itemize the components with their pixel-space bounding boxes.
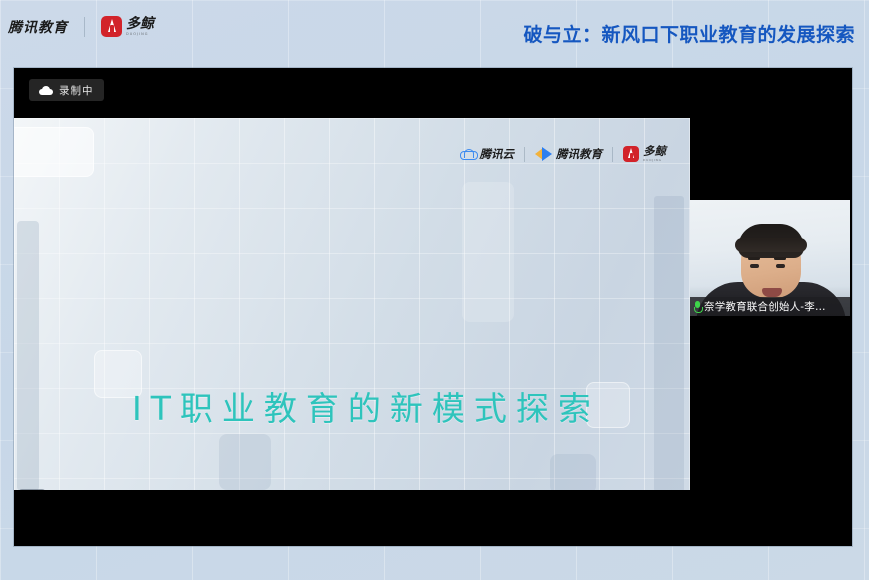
slide-decoration-block [219,434,271,490]
recording-indicator: 录制中 [29,79,104,101]
participant-hair [738,224,804,258]
duojing-logo: 多鲸 DUOJING [101,16,154,37]
participant-mouth [762,288,782,297]
duojing-logo-en: DUOJING [126,33,154,37]
brand-divider [84,17,85,37]
brand-logos: 腾讯教育 多鲸 DUOJING [8,16,154,37]
duojing-slide-logo-text: 多鲸 DUOJING [643,146,666,162]
duojing-slide-sublabel: DUOJING [643,159,666,162]
slide-logo-strip: 腾讯云 腾讯教育 多鲸 DUOJING [460,146,667,162]
participant-eyebrow [748,257,760,260]
slide-menu-button[interactable] [18,489,46,490]
slide-decoration-block [14,127,94,177]
participant-eye [776,264,785,268]
participant-eye [750,264,759,268]
shared-screen-slide[interactable]: 腾讯云 腾讯教育 多鲸 DUOJING IT职业教育的新模式探索 李希沅 奈学 [14,118,690,490]
logo-divider [524,147,525,162]
tencent-education-logo: 腾讯教育 [535,146,602,162]
duojing-icon [101,16,122,37]
page-title: 破与立：新风口下职业教育的发展探索 [523,20,855,47]
slide-decoration-block [550,454,596,490]
duojing-logo-cn: 多鲸 [126,17,154,31]
participant-eyebrow [774,257,786,260]
tencent-education-icon [535,147,552,161]
cloud-icon [39,86,53,95]
tencent-education-logo-text: 腾讯教育 [8,17,68,37]
microphone-icon [694,301,701,312]
logo-divider [612,147,613,162]
duojing-icon [623,146,639,162]
slide-heading: IT职业教育的新模式探索 [132,382,600,430]
tencent-cloud-icon [460,149,476,160]
recording-label: 录制中 [59,83,94,98]
page-header: 腾讯教育 多鲸 DUOJING 破与立：新风口下职业教育的发展探索 [0,0,869,60]
tencent-cloud-logo: 腾讯云 [460,146,515,162]
participant-video-tile[interactable]: 奈学教育联合创始人-李… [690,200,852,316]
duojing-slide-label: 多鲸 [643,146,666,158]
participant-name-label: 奈学教育联合创始人-李… [704,299,826,314]
stage-right-edge [850,68,852,546]
meeting-stage: 录制中 腾讯云 腾讯教育 [14,68,852,546]
slide-decoration-block [17,221,39,490]
duojing-slide-logo: 多鲸 DUOJING [623,146,666,162]
slide-decoration-block [462,182,514,322]
participant-caption: 奈学教育联合创始人-李… [690,297,852,316]
duojing-logo-text: 多鲸 DUOJING [126,17,154,37]
tencent-education-label: 腾讯教育 [556,146,602,162]
slide-decoration-block [654,196,684,490]
tencent-cloud-label: 腾讯云 [480,146,515,162]
